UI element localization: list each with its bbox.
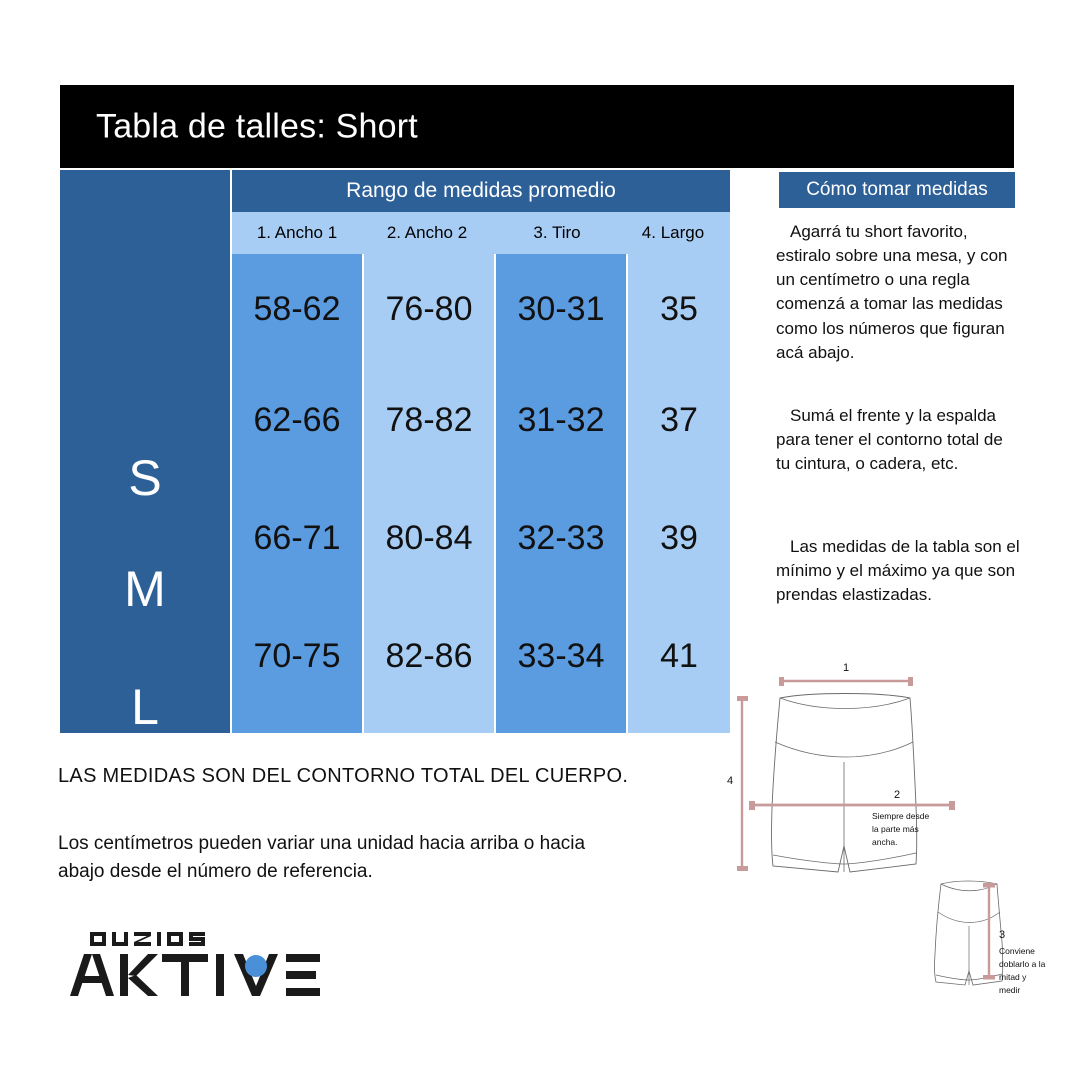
diagram-note-3-line2: doblarlo a la: [999, 959, 1046, 969]
table-size-header-cell: [60, 170, 230, 212]
diagram-note-3-line1: Conviene: [999, 946, 1035, 956]
howto-banner-label: Cómo tomar medidas: [806, 179, 988, 201]
table-group-header: Rango de medidas promedio: [232, 170, 730, 212]
diagram-marker-3: 3: [999, 929, 1005, 941]
page-title: Tabla de talles: Short: [96, 107, 418, 146]
table-cell: 32-33: [496, 521, 626, 555]
diagram-marker-1: 1: [843, 662, 849, 674]
diagram-marker-4: 4: [727, 775, 733, 787]
table-cell: 70-75: [232, 639, 362, 673]
diagram-note-3-line4: medir: [999, 985, 1020, 995]
logo-main-word-icon: [70, 954, 320, 996]
footer-contour-note: LAS MEDIDAS SON DEL CONTORNO TOTAL DEL C…: [58, 765, 628, 788]
table-cell: 58-62: [232, 292, 362, 326]
table-cell: 62-66: [232, 403, 362, 437]
table-cell: 66-71: [232, 521, 362, 555]
table-cell: 41: [628, 639, 730, 673]
column-header-ancho1: 1. Ancho 1: [232, 223, 362, 243]
diagram-marker-2: 2: [894, 789, 900, 801]
table-cell: 33-34: [496, 639, 626, 673]
howto-paragraph-3: Las medidas de la tabla son el mínimo y …: [776, 535, 1020, 607]
table-cell: 31-32: [496, 403, 626, 437]
shorts-diagram-front-icon: 1 4 2 Siempre desde la parte más ancha.: [720, 650, 1020, 900]
howto-paragraph-2: Sumá el frente y la espalda para tener e…: [776, 404, 1020, 476]
table-cell: 37: [628, 403, 730, 437]
brand-logo: [62, 920, 352, 1002]
table-cell: 78-82: [364, 403, 494, 437]
table-cell: 76-80: [364, 292, 494, 326]
diagram-note-3-line3: mitad y: [999, 972, 1027, 982]
table-cell: 35: [628, 292, 730, 326]
table-cell: 39: [628, 521, 730, 555]
size-label: L: [60, 682, 230, 732]
size-chart-canvas: Tabla de talles: Short Rango de medidas …: [0, 0, 1080, 1080]
table-subheader-row: 1. Ancho 1 2. Ancho 2 3. Tiro 4. Largo: [232, 212, 730, 254]
diagram-note-2-line2: la parte más: [872, 824, 919, 834]
title-bar: Tabla de talles: Short: [60, 85, 1014, 168]
size-label: M: [60, 564, 230, 614]
size-label: S: [60, 453, 230, 503]
footer-variation-note: Los centímetros pueden variar una unidad…: [58, 830, 618, 885]
column-header-ancho2: 2. Ancho 2: [362, 223, 492, 243]
logo-accent-dot-icon: [245, 955, 267, 977]
table-group-header-label: Rango de medidas promedio: [346, 179, 616, 203]
howto-banner: Cómo tomar medidas: [779, 172, 1015, 208]
size-table: Rango de medidas promedio 1. Ancho 1 2. …: [60, 170, 730, 733]
howto-paragraph-1: Agarrá tu short favorito, estiralo sobre…: [776, 220, 1020, 365]
table-cell: 30-31: [496, 292, 626, 326]
diagram-note-2-line3: ancha.: [872, 837, 898, 847]
logo-top-word-icon: [90, 932, 205, 946]
table-cell: 80-84: [364, 521, 494, 555]
shorts-diagram-rise-icon: 3 Conviene doblarlo a la mitad y medir: [908, 868, 1080, 1013]
column-header-tiro: 3. Tiro: [492, 223, 622, 243]
column-header-largo: 4. Largo: [622, 223, 724, 243]
diagram-note-2-line1: Siempre desde: [872, 811, 929, 821]
table-cell: 82-86: [364, 639, 494, 673]
